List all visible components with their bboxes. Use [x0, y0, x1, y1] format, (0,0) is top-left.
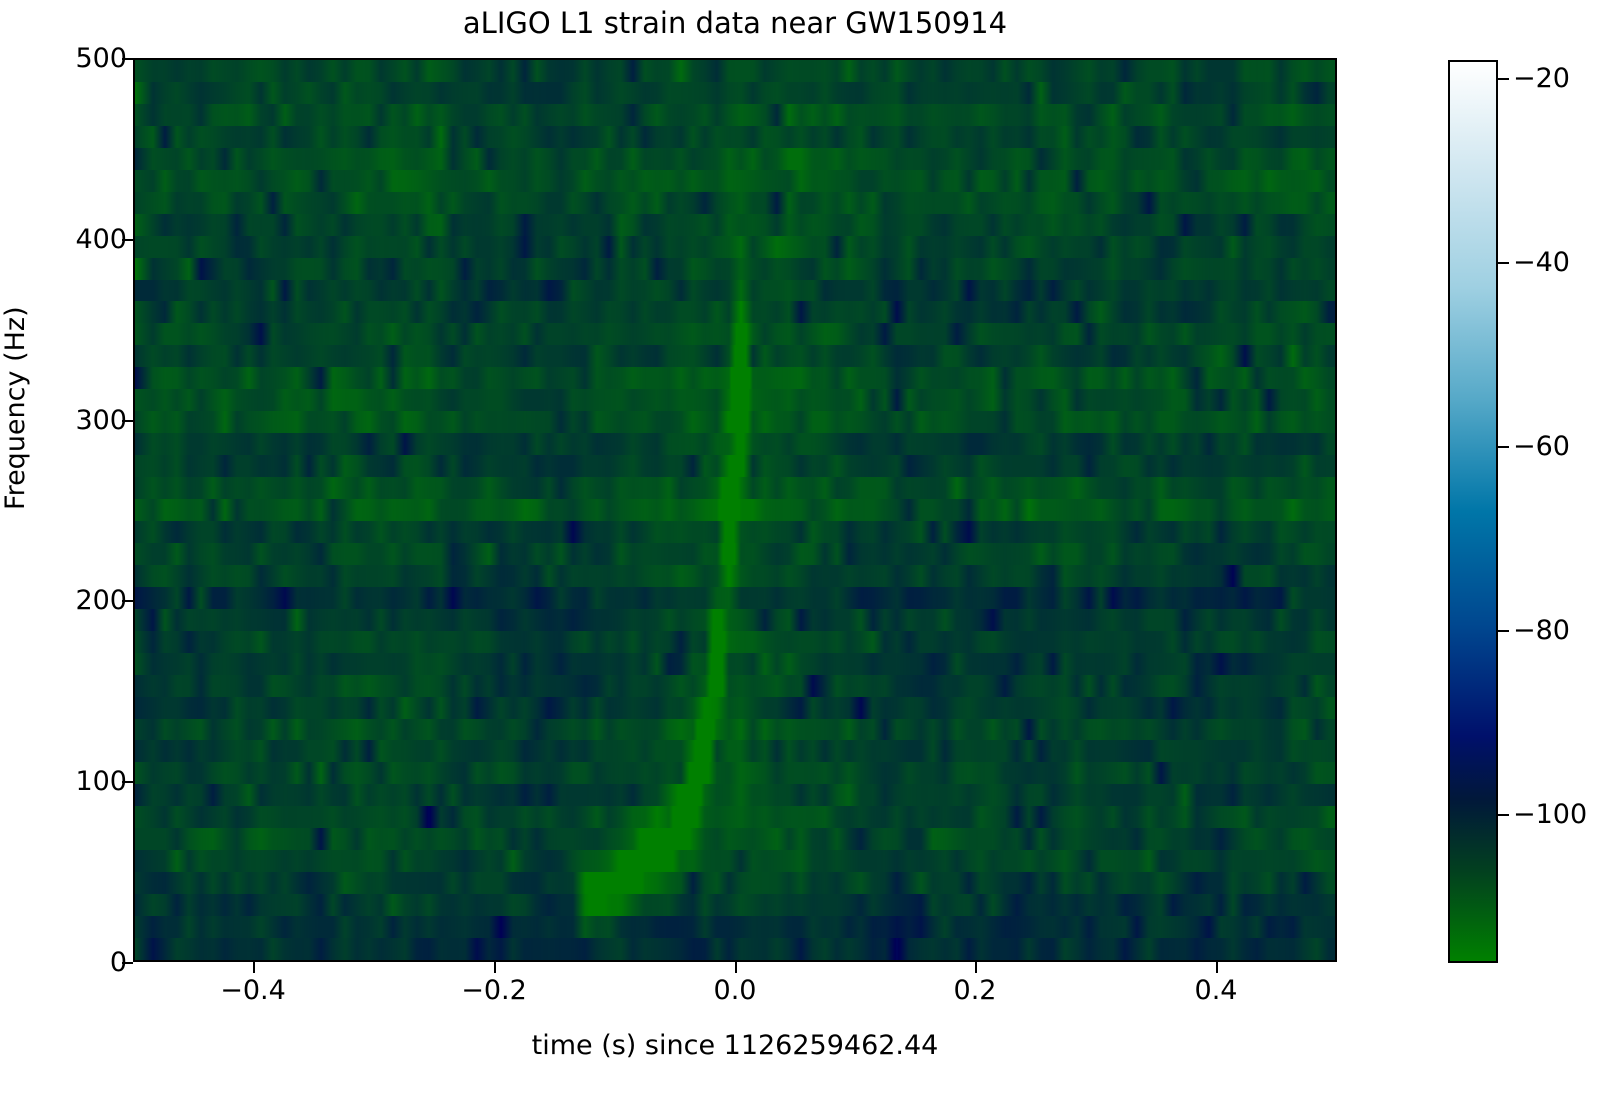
x-tick-label--0.4: −0.4: [220, 975, 286, 1006]
colorbar[interactable]: [1448, 60, 1498, 963]
x-tick-label-0.0: 0.0: [714, 975, 757, 1006]
colorbar-gradient: [1450, 62, 1496, 961]
spectrogram-plot-area[interactable]: [133, 58, 1337, 962]
y-axis-label: Frequency (Hz): [0, 478, 31, 510]
colorbar-tick-label--20: −20: [1513, 63, 1570, 94]
colorbar-tick-label--60: −60: [1513, 431, 1570, 462]
colorbar-tick-mark: [1498, 630, 1509, 632]
y-tick-label-300: 300: [75, 405, 127, 436]
y-tick-label-100: 100: [75, 766, 127, 797]
x-axis-label: time (s) since 1126259462.44: [133, 1030, 1337, 1061]
page-title: aLIGO L1 strain data near GW150914: [133, 6, 1337, 40]
colorbar-tick-mark: [1498, 814, 1509, 816]
x-tick-mark: [494, 962, 496, 973]
y-tick-label-0: 0: [110, 947, 127, 978]
x-tick-mark: [1216, 962, 1218, 973]
colorbar-tick-mark: [1498, 78, 1509, 80]
figure-canvas: aLIGO L1 strain data near GW150914 Frequ…: [0, 0, 1611, 1093]
x-tick-label-0.2: 0.2: [954, 975, 997, 1006]
x-tick-label-0.4: 0.4: [1195, 975, 1238, 1006]
colorbar-tick-mark: [1498, 262, 1509, 264]
colorbar-tick-label--80: −80: [1513, 615, 1570, 646]
x-tick-mark: [975, 962, 977, 973]
spectrogram-image: [135, 60, 1335, 960]
y-tick-label-400: 400: [75, 224, 127, 255]
x-tick-mark: [735, 962, 737, 973]
colorbar-tick-label--40: −40: [1513, 247, 1570, 278]
x-tick-mark: [253, 962, 255, 973]
colorbar-tick-label--100: −100: [1513, 799, 1587, 830]
colorbar-tick-mark: [1498, 446, 1509, 448]
y-tick-label-200: 200: [75, 585, 127, 616]
x-tick-label--0.2: −0.2: [461, 975, 527, 1006]
y-tick-label-500: 500: [75, 43, 127, 74]
